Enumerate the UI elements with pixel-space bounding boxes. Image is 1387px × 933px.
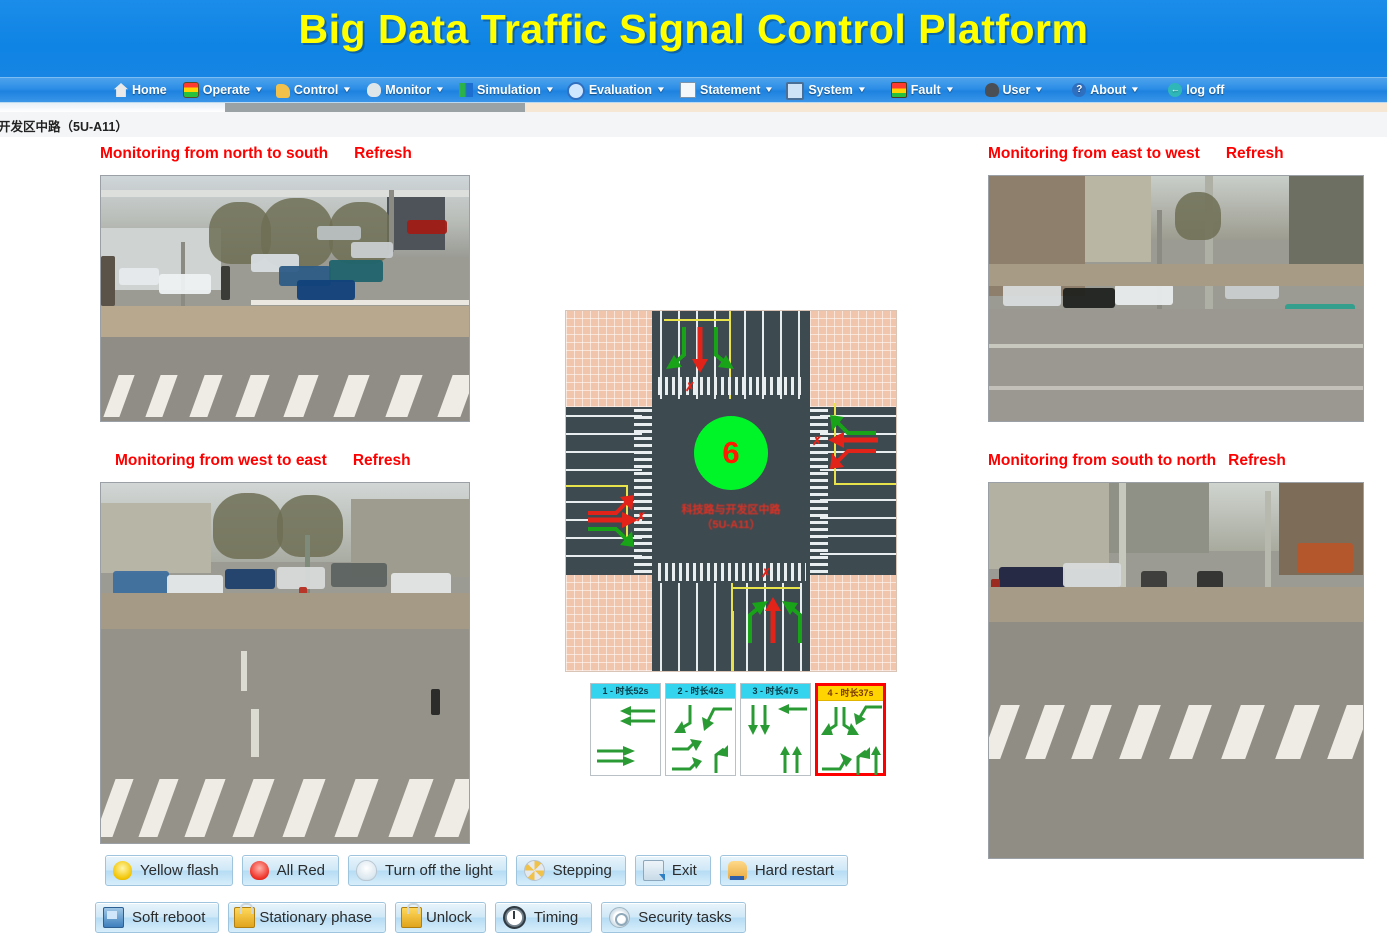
stepping-button[interactable]: Stepping <box>516 855 626 886</box>
lane-line <box>566 415 642 417</box>
lane-line <box>566 451 642 453</box>
arrow-west-right-turn <box>586 523 638 551</box>
pedestrian-signal-east: ✗ <box>812 435 822 447</box>
gear-icon <box>524 860 545 881</box>
menu-item-system[interactable]: System ▼ <box>782 77 874 103</box>
lane-line <box>696 583 698 671</box>
cam-sidewalk <box>989 587 1363 623</box>
intersection-name-line1: 科技路与开发区中路 <box>682 503 781 518</box>
menu-item-user[interactable]: User ▼ <box>963 77 1053 103</box>
unlock-button[interactable]: Unlock <box>395 902 486 933</box>
menu-item-label: About <box>1090 83 1126 97</box>
cam-car <box>1063 288 1115 308</box>
monitor-heading-north-south: Monitoring from north to south Refresh <box>100 145 412 163</box>
red-bulb-icon <box>250 861 269 880</box>
strip-selected <box>225 103 525 112</box>
crosswalk-south <box>658 563 806 581</box>
menu-item-evaluation[interactable]: Evaluation ▼ <box>563 77 674 103</box>
button-label: Stepping <box>553 862 612 879</box>
chevron-down-icon: ▼ <box>764 86 774 94</box>
phase-sequence-list: 1 - 时长52s 2 - 时长42s <box>590 683 886 776</box>
cam-building <box>1085 176 1151 262</box>
intersection-diagram[interactable]: ✗ ✗ ✗ ✗ 6 科技路与开发区中路 （5U-A11） <box>565 310 897 672</box>
lane-line <box>820 499 896 501</box>
cam-pedestrian <box>431 689 440 715</box>
cam-car <box>1115 284 1173 305</box>
cam-car <box>119 268 159 285</box>
cam-building <box>989 483 1109 569</box>
cam-car <box>1063 563 1121 587</box>
cam-building <box>1289 176 1363 268</box>
simulation-icon <box>459 83 473 97</box>
chevron-down-icon: ▼ <box>1034 86 1044 94</box>
phase-label: 2 - 时长42s <box>666 684 735 699</box>
menu-item-fault[interactable]: Fault ▼ <box>875 77 963 103</box>
intersection-name-line2: （5U-A11） <box>701 518 760 533</box>
phase-arrow <box>672 703 698 737</box>
cam-sidewalk <box>101 593 469 629</box>
menu-item-label: Statement <box>700 83 760 97</box>
cam-pedestrian <box>221 266 230 300</box>
button-label: Turn off the light <box>385 862 493 879</box>
finger-press-icon <box>728 861 747 880</box>
lane-line <box>820 535 896 537</box>
hard-restart-button[interactable]: Hard restart <box>720 855 848 886</box>
computer-icon <box>103 907 124 928</box>
menu-item-label: Operate <box>203 83 250 97</box>
chevron-down-icon: ▼ <box>342 86 352 94</box>
phase-box-1[interactable]: 1 - 时长52s <box>590 683 661 776</box>
cam-building <box>101 503 211 573</box>
menu-item-operate[interactable]: Operate ▼ <box>176 77 272 103</box>
monitor-title: Monitoring from east to west <box>988 145 1200 163</box>
menu-item-statement[interactable]: Statement ▼ <box>674 77 782 103</box>
content-area: Monitoring from north to south Refresh M… <box>0 137 1387 813</box>
logoff-icon: ← <box>1168 83 1182 97</box>
stationary-phase-button[interactable]: Stationary phase <box>228 902 386 933</box>
lane-line <box>566 433 642 435</box>
shield-icon <box>609 907 630 928</box>
menu-item-monitor[interactable]: Monitor ▼ <box>360 77 453 103</box>
all-red-button[interactable]: All Red <box>242 855 339 886</box>
phase-label: 4 - 时长37s <box>818 686 883 701</box>
exit-icon <box>643 860 664 881</box>
chevron-down-icon: ▼ <box>1130 86 1140 94</box>
phase-arrow <box>777 745 807 775</box>
lock-icon <box>234 907 255 928</box>
yellow-bulb-icon <box>113 861 132 880</box>
fault-signal-icon <box>891 82 907 98</box>
exit-button[interactable]: Exit <box>635 855 711 886</box>
yellow-flash-button[interactable]: Yellow flash <box>105 855 233 886</box>
cam-car <box>225 569 275 589</box>
phase-arrow <box>617 705 657 731</box>
arrow-south-right-turn <box>778 593 808 645</box>
menu-item-label: User <box>1003 83 1031 97</box>
quadrant-se <box>810 575 896 671</box>
button-label: Yellow flash <box>140 862 219 879</box>
menu-item-log-off[interactable]: ← log off <box>1148 77 1233 103</box>
cam-pole <box>1265 491 1271 595</box>
menu-item-label: Control <box>294 83 338 97</box>
cam-sidewalk <box>989 264 1363 286</box>
cam-car <box>317 226 361 240</box>
house-icon <box>114 83 128 97</box>
main-menu-bar: Home Operate ▼ Control ▼ Monitor ▼ Simul… <box>0 77 1387 103</box>
cam-car <box>331 563 387 587</box>
countdown-value: 6 <box>722 435 739 471</box>
soft-reboot-button[interactable]: Soft reboot <box>95 902 219 933</box>
center-line <box>834 483 896 485</box>
lane-line <box>660 583 662 671</box>
chevron-down-icon: ▼ <box>254 86 264 94</box>
phase-diagram <box>591 699 660 776</box>
arrow-north-straight <box>691 325 709 375</box>
strip-right <box>525 103 1387 112</box>
off-bulb-icon <box>356 860 377 881</box>
stop-bar-yellow <box>732 611 734 671</box>
countdown-indicator: 6 <box>694 416 768 490</box>
cam-car <box>329 260 383 282</box>
arrow-north-left-turn <box>662 325 692 375</box>
quadrant-ne <box>810 311 896 407</box>
monitor-heading-south-north: Monitoring from south to north Refresh <box>988 452 1286 470</box>
menu-item-label: log off <box>1186 83 1224 97</box>
cam-lane-mark <box>251 300 469 305</box>
phase-arrow <box>595 745 639 771</box>
security-tasks-button[interactable]: Security tasks <box>601 902 745 933</box>
menu-item-label: Simulation <box>477 83 541 97</box>
hand-icon <box>276 84 290 98</box>
cam-pedestrian <box>101 256 115 306</box>
clock-icon <box>503 906 526 929</box>
arrow-north-right-turn <box>708 325 738 375</box>
lock-icon <box>401 907 422 928</box>
menu-item-about[interactable]: ? About ▼ <box>1052 77 1148 103</box>
cam-lane-mark <box>251 709 259 757</box>
person-monitor-icon <box>367 83 381 97</box>
document-icon <box>680 82 696 98</box>
pedestrian-signal-south: ✗ <box>761 567 771 579</box>
control-button-row-2: Soft reboot Stationary phase Unlock Timi… <box>95 902 746 933</box>
page-title: Big Data Traffic Signal Control Platform <box>0 6 1387 53</box>
quadrant-sw <box>566 575 652 671</box>
menu-item-label: Evaluation <box>589 83 652 97</box>
cam-tree <box>277 495 343 557</box>
crosswalk-north <box>658 377 804 395</box>
button-label: Soft reboot <box>132 909 205 926</box>
cam-car <box>351 242 393 258</box>
cam-lane-mark <box>241 651 247 691</box>
button-label: All Red <box>277 862 325 879</box>
button-label: Hard restart <box>755 862 834 879</box>
chevron-down-icon: ▼ <box>656 86 666 94</box>
chevron-down-icon: ▼ <box>944 86 954 94</box>
cam-car <box>1003 284 1061 306</box>
control-button-row-1: Yellow flash All Red Turn off the light … <box>105 855 848 886</box>
phase-diagram <box>741 699 810 776</box>
phase-arrow <box>706 743 732 775</box>
cam-car <box>159 274 211 294</box>
button-label: Timing <box>534 909 578 926</box>
phase-arrow <box>852 743 882 777</box>
phase-label: 1 - 时长52s <box>591 684 660 699</box>
menu-item-label: Monitor <box>385 83 431 97</box>
cam-car <box>297 280 355 300</box>
refresh-link[interactable]: Refresh <box>353 452 411 470</box>
pedestrian-signal-north: ✗ <box>685 381 695 393</box>
center-line <box>566 485 628 487</box>
monitor-title: Monitoring from west to east <box>115 452 327 470</box>
phase-box-3[interactable]: 3 - 时长47s <box>740 683 811 776</box>
monitor-title: Monitoring from south to north <box>988 452 1216 470</box>
chevron-down-icon: ▼ <box>857 86 867 94</box>
lane-line <box>566 555 642 557</box>
quadrant-nw <box>566 311 652 407</box>
menu-item-label: Home <box>132 83 167 97</box>
refresh-link[interactable]: Refresh <box>1228 452 1286 470</box>
timing-button[interactable]: Timing <box>495 902 592 933</box>
menu-underline-strip <box>0 103 1387 112</box>
monitor-icon <box>786 82 804 100</box>
button-label: Stationary phase <box>259 909 372 926</box>
turn-off-light-button[interactable]: Turn off the light <box>348 855 507 886</box>
phase-diagram <box>666 699 735 776</box>
menu-item-control[interactable]: Control ▼ <box>272 77 360 103</box>
phase-arrow <box>852 703 884 727</box>
camera-feed-south-to-north[interactable] <box>988 482 1364 859</box>
button-label: Exit <box>672 862 697 879</box>
menu-item-home[interactable]: Home <box>110 77 176 103</box>
user-icon <box>985 83 999 97</box>
traffic-signal-icon <box>183 82 199 98</box>
cam-car <box>1297 543 1353 573</box>
lane-line <box>820 553 896 555</box>
monitor-title: Monitoring from north to south <box>100 145 328 163</box>
phase-arrow <box>745 703 773 737</box>
cam-lane-mark <box>989 386 1363 390</box>
lane-line <box>566 469 642 471</box>
stop-bar-yellow <box>664 319 730 321</box>
stop-bar-yellow <box>732 587 800 589</box>
camera-feed-west-to-east[interactable] <box>100 482 470 844</box>
cam-car <box>277 567 325 589</box>
phase-box-2[interactable]: 2 - 时长42s <box>665 683 736 776</box>
phase-arrow <box>775 703 809 725</box>
monitor-heading-west-east: Monitoring from west to east Refresh <box>115 452 411 470</box>
cam-gantry <box>101 190 469 197</box>
phase-arrow <box>700 705 734 735</box>
magnifier-icon <box>567 82 585 100</box>
menu-item-label: Fault <box>911 83 941 97</box>
refresh-link[interactable]: Refresh <box>1226 145 1284 163</box>
button-label: Security tasks <box>638 909 731 926</box>
monitor-heading-east-west: Monitoring from east to west Refresh <box>988 145 1284 163</box>
cam-car <box>407 220 447 234</box>
menu-item-simulation[interactable]: Simulation ▼ <box>453 77 563 103</box>
breadcrumb-bar: 开发区中路（5U-A11） <box>0 112 1387 138</box>
cam-road <box>989 309 1363 421</box>
chevron-down-icon: ▼ <box>435 86 445 94</box>
phase-box-4[interactable]: 4 - 时长37s <box>815 683 886 776</box>
refresh-link[interactable]: Refresh <box>354 145 412 163</box>
menu-item-label: System <box>808 83 852 97</box>
arrow-east-right-turn <box>824 445 878 473</box>
help-icon: ? <box>1072 83 1086 97</box>
phase-label: 3 - 时长47s <box>741 684 810 699</box>
lane-line <box>820 517 896 519</box>
cam-tree <box>1175 192 1221 240</box>
breadcrumb: 开发区中路（5U-A11） <box>0 116 128 135</box>
phase-diagram <box>818 701 883 778</box>
chevron-down-icon: ▼ <box>545 86 555 94</box>
lane-line <box>714 583 716 671</box>
lane-line <box>678 583 680 671</box>
cam-tree <box>213 493 283 559</box>
phase-arrow <box>820 751 854 777</box>
cam-car <box>113 571 169 595</box>
camera-feed-north-to-south[interactable] <box>100 175 470 422</box>
button-label: Unlock <box>426 909 472 926</box>
camera-feed-east-to-west[interactable] <box>988 175 1364 422</box>
phase-arrow <box>670 753 704 777</box>
app-banner: Big Data Traffic Signal Control Platform <box>0 0 1387 77</box>
cam-lane-mark <box>989 344 1363 348</box>
